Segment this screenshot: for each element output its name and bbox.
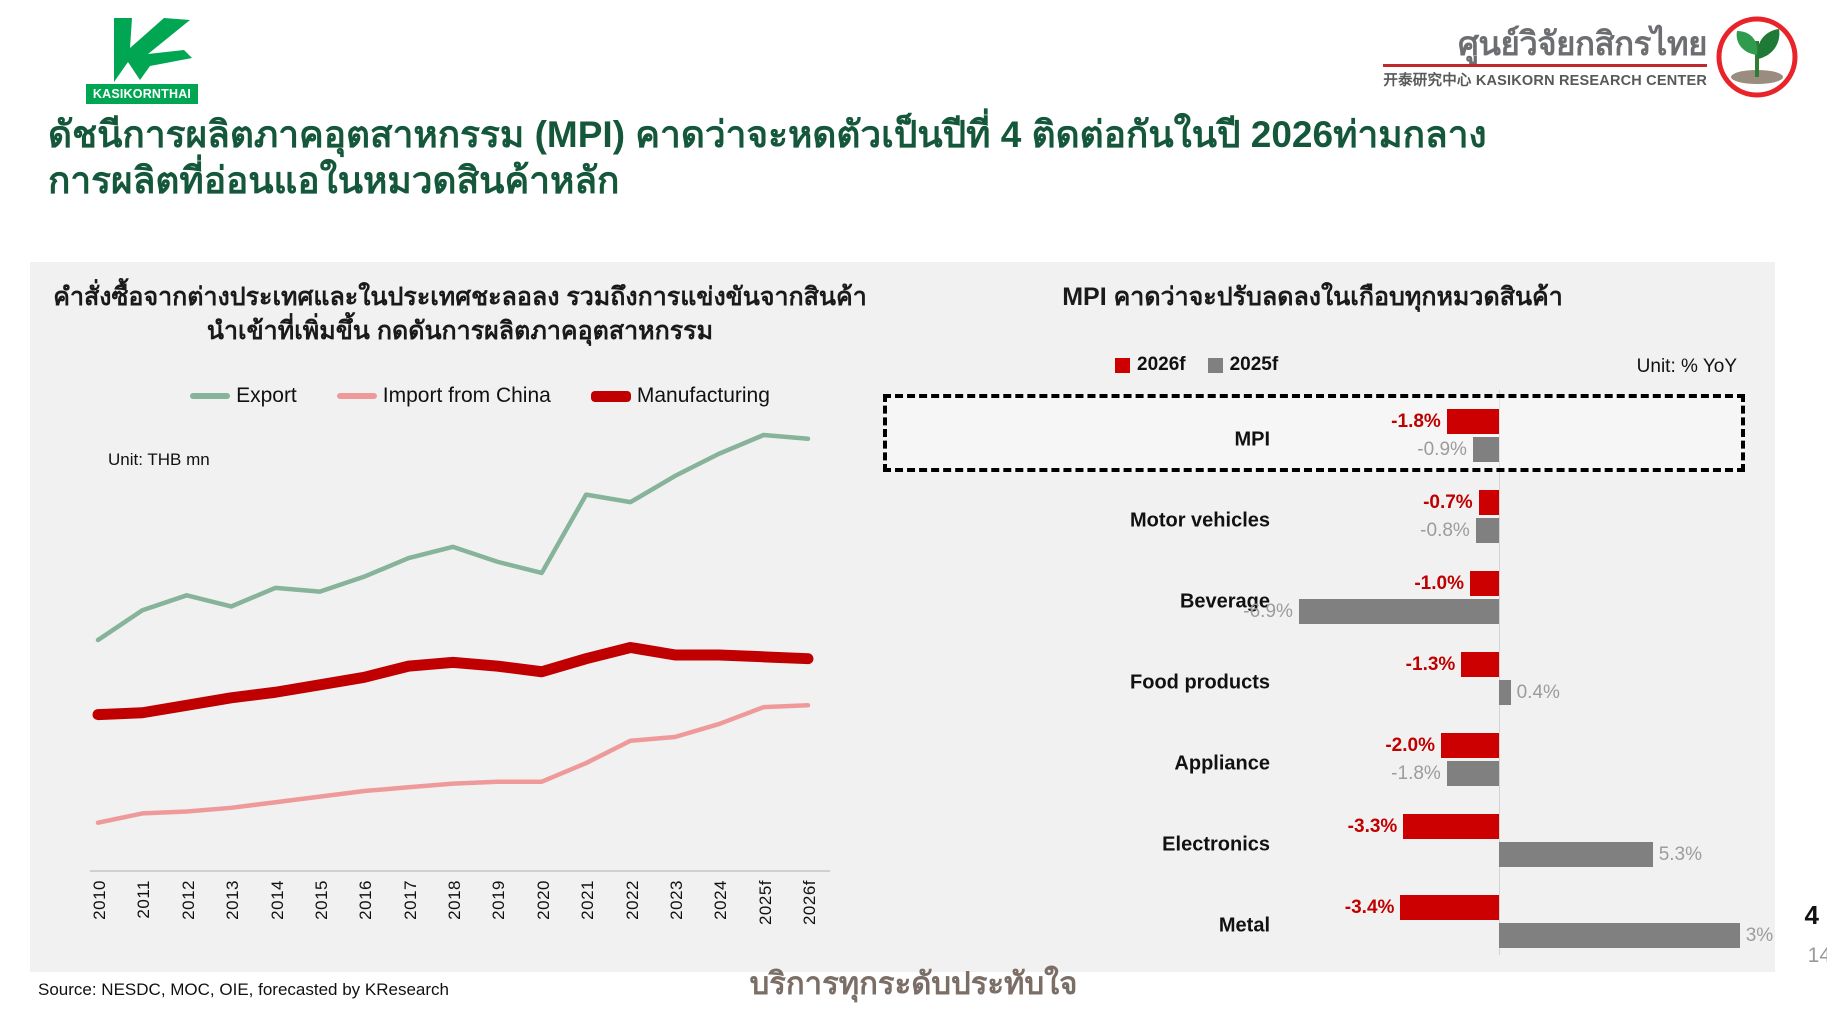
krc-thai-name: ศูนย์วิจัยกสิกรไทย [1383,25,1707,63]
x-axis-tick-label: 2022 [623,880,643,920]
bar-value-label: 0.4% [1517,680,1560,705]
bar-chart: 2026f2025f Unit: % YoY MPI-1.8%-0.9%Moto… [875,354,1755,964]
x-axis-tick-label: 2021 [578,880,598,920]
x-axis-tick-label: 2019 [489,880,509,920]
x-axis-tick-label: 2014 [268,880,288,920]
kasikorn-research-seal-icon [1715,15,1799,99]
bar-chart-unit-label: Unit: % YoY [1637,356,1737,378]
bar-value-label: -0.7% [1423,490,1473,515]
page-number: 14 [1808,944,1827,968]
kasikornbank-k-icon [80,14,210,84]
category-label: Appliance [875,753,1270,776]
x-axis-tick-label: 2013 [223,880,243,920]
category-label: Metal [875,915,1270,938]
bar-chart-legend: 2026f2025f [1115,354,1278,376]
category-label: Beverage [875,591,1270,614]
bar-2026f [1447,409,1499,434]
bar-2025f [1476,518,1499,543]
x-axis-tick-label: 2016 [356,880,376,920]
bar-value-label: 3% [1746,923,1773,948]
page-title: ดัชนีการผลิตภาคอุตสาหกรรม (MPI) คาดว่าจะ… [48,112,1508,204]
bar-2026f [1461,652,1499,677]
category-label: Food products [875,672,1270,695]
bar-2025f [1499,923,1740,948]
bar-chart-rows: MPI-1.8%-0.9%Motor vehicles-0.7%-0.8%Bev… [875,390,1755,960]
legend-swatch-icon [190,393,230,399]
krc-divider [1383,64,1707,67]
krc-text-block: ศูนย์วิจัยกสิกรไทย 开泰研究中心 KASIKORN RESEA… [1383,25,1707,90]
bar-2025f [1299,599,1499,624]
category-label: Electronics [875,834,1270,857]
legend-swatch-icon [1115,358,1130,373]
x-axis-tick-label: 2026f [800,880,820,925]
line-series-import-from-china [98,705,808,822]
bar-row: Electronics-3.3%5.3% [875,811,1755,879]
bar-value-label: -1.3% [1406,652,1456,677]
bar-value-label: 5.3% [1659,842,1702,867]
kasikornbank-logo: KASIKORNTHAI [80,14,210,106]
bar-legend-item-2026f: 2026f [1115,354,1186,376]
x-axis-tick-label: 2025f [756,880,776,925]
line-series-export [98,435,808,640]
bar-value-label: -1.8% [1391,761,1441,786]
x-axis-tick-label: 2020 [534,880,554,920]
x-axis-tick-label: 2017 [401,880,421,920]
legend-swatch-icon [591,391,631,402]
x-axis-tick-label: 2024 [711,880,731,920]
bar-value-label: -3.3% [1348,814,1398,839]
bar-value-label: -2.0% [1385,733,1435,758]
x-axis-tick-label: 2010 [90,880,110,920]
right-chart-heading: MPI คาดว่าจะปรับลดลงในเกือบทุกหมวดสินค้า [890,280,1735,314]
left-chart-heading: คำสั่งซื้อจากต่างประเทศและในประเทศชะลอลง… [50,280,870,348]
bar-row: Appliance-2.0%-1.8% [875,730,1755,798]
bar-2026f [1403,814,1499,839]
line-series-manufacturing [98,648,808,715]
bar-value-label: -1.8% [1391,409,1441,434]
brand-slogan: บริการทุกระดับประทับใจ [0,958,1827,1008]
bar-row: Beverage-1.0%-6.9% [875,568,1755,636]
kasikorn-research-center-logo: ศูนย์วิจัยกสิกรไทย 开泰研究中心 KASIKORN RESEA… [1383,14,1799,100]
bar-2026f [1470,571,1499,596]
bar-row: MPI-1.8%-0.9% [875,406,1755,474]
legend-label: 2025f [1230,354,1279,376]
x-axis-tick-label: 2023 [667,880,687,920]
bar-2025f [1447,761,1499,786]
category-label: Motor vehicles [875,510,1270,533]
bar-value-label: -1.0% [1414,571,1464,596]
bar-2025f [1473,437,1499,462]
bar-2026f [1400,895,1499,920]
bar-2025f [1499,842,1653,867]
x-axis-tick-label: 2018 [445,880,465,920]
x-axis-tick-label: 2015 [312,880,332,920]
bar-2026f [1479,490,1499,515]
legend-swatch-icon [337,393,377,399]
bar-value-label: -3.4% [1345,895,1395,920]
legend-label: 2026f [1137,354,1186,376]
bar-row: Food products-1.3%0.4% [875,649,1755,717]
x-axis-tick-label: 2011 [134,880,154,919]
bar-legend-item-2025f: 2025f [1208,354,1279,376]
category-label: MPI [875,429,1270,452]
charts-panel: คำสั่งซื้อจากต่างประเทศและในประเทศชะลอลง… [30,262,1775,972]
legend-swatch-icon [1208,358,1223,373]
line-chart: ExportImport from ChinaManufacturing Uni… [50,372,860,962]
kasikornthai-wordmark: KASIKORNTHAI [86,84,198,104]
x-axis-tick-label: 2012 [179,880,199,920]
bar-value-label: -0.9% [1417,437,1467,462]
bar-value-label: -0.8% [1420,518,1470,543]
bar-row: Motor vehicles-0.7%-0.8% [875,487,1755,555]
line-chart-plot [90,402,830,872]
bar-2026f [1441,733,1499,758]
krc-subtitle: 开泰研究中心 KASIKORN RESEARCH CENTER [1383,69,1707,90]
slide-number: 4 [1805,900,1819,931]
bar-value-label: -6.9% [1243,599,1293,624]
bar-2025f [1499,680,1511,705]
bar-row: Metal-3.4%3% [875,892,1755,960]
